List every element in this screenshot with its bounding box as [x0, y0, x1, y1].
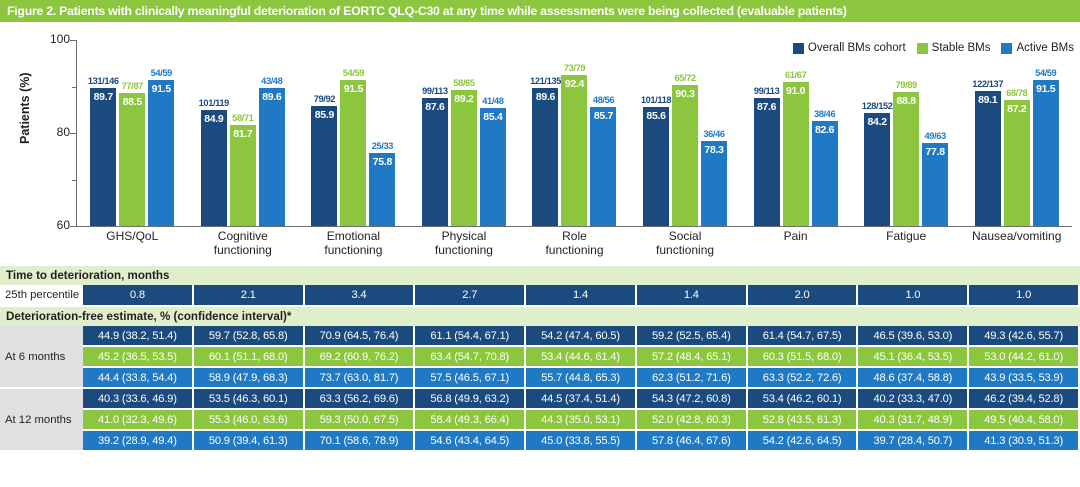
- bar-fraction-label: 25/33: [361, 141, 403, 151]
- y-tick-major-100: [70, 40, 76, 41]
- x-axis-category-label: Socialfunctioning: [630, 230, 741, 257]
- table-cell: 46.5 (39.6, 53.0): [858, 326, 967, 345]
- x-axis-category-label: Cognitivefunctioning: [188, 230, 299, 257]
- table-cell: 45.2 (36.5, 53.5): [83, 347, 192, 366]
- bar-group: 128/15284.279/8988.849/6377.8: [851, 40, 962, 226]
- bar: 65/7290.3: [672, 85, 698, 226]
- x-axis-category-label: Emotionalfunctioning: [298, 230, 409, 257]
- bar-value-label: 78.3: [701, 144, 727, 156]
- table-cell: 43.9 (33.5, 53.9): [969, 368, 1078, 387]
- bar-fraction-label: 58/65: [443, 78, 485, 88]
- table-cell: 54.6 (43.4, 64.5): [415, 431, 524, 450]
- bar-value-label: 88.8: [893, 95, 919, 107]
- bar: 54/5991.5: [148, 80, 174, 226]
- bar-fraction-label: 73/79: [553, 63, 595, 73]
- x-axis-category-label: Fatigue: [851, 230, 962, 244]
- table-cell: 62.3 (51.2, 71.6): [637, 368, 746, 387]
- bar: 36/4678.3: [701, 141, 727, 226]
- table-cell: 60.1 (51.1, 68.0): [194, 347, 303, 366]
- table-row-block: At 12 months40.3 (33.6, 46.9)53.5 (46.3,…: [0, 389, 1080, 450]
- table-cell: 58.4 (49.3, 66.4): [415, 410, 524, 429]
- bar-chart: Patients (%) 131/14689.777/8788.554/5991…: [0, 26, 1080, 266]
- bar-fraction-label: 58/71: [222, 113, 264, 123]
- table-cell: 55.3 (46.0, 63.6): [194, 410, 303, 429]
- bar-value-label: 90.3: [672, 88, 698, 100]
- bar-fraction-label: 61/67: [775, 70, 817, 80]
- bar-value-label: 75.8: [369, 156, 395, 168]
- table-cell: 53.4 (44.6, 61.4): [526, 347, 635, 366]
- table-cell: 2.1: [194, 285, 303, 305]
- table-cell: 59.7 (52.8, 65.8): [194, 326, 303, 345]
- bar: 43/4889.6: [259, 88, 285, 226]
- table-row-label: At 12 months: [0, 389, 83, 450]
- table-row: 41.0 (32.3, 49.6)55.3 (46.0, 63.6)59.3 (…: [83, 410, 1080, 429]
- table-cell: 49.5 (40.4, 58.0): [969, 410, 1078, 429]
- bar: 41/4885.4: [480, 108, 506, 226]
- table-row-block: 25th percentile0.82.13.42.71.41.42.01.01…: [0, 285, 1080, 305]
- bar-value-label: 87.6: [422, 101, 448, 113]
- table-cell: 54.2 (47.4, 60.5): [526, 326, 635, 345]
- bar-fraction-label: 79/92: [303, 94, 345, 104]
- table-cell: 73.7 (63.0, 81.7): [305, 368, 414, 387]
- bar-value-label: 81.7: [230, 128, 256, 140]
- bar-value-label: 91.5: [148, 83, 174, 95]
- bar-value-label: 82.6: [812, 124, 838, 136]
- table-cell: 0.8: [83, 285, 192, 305]
- table-cell: 61.4 (54.7, 67.5): [748, 326, 857, 345]
- table-cell: 53.0 (44.2, 61.0): [969, 347, 1078, 366]
- table-cell: 57.2 (48.4, 65.1): [637, 347, 746, 366]
- bar-value-label: 85.7: [590, 110, 616, 122]
- bar-fraction-label: 43/48: [251, 76, 293, 86]
- figure-panel: Figure 2. Patients with clinically meani…: [0, 0, 1080, 487]
- table-cell: 53.5 (46.3, 60.1): [194, 389, 303, 408]
- table-cell: 63.3 (52.2, 72.6): [748, 368, 857, 387]
- table-cell: 52.8 (43.5, 61.3): [748, 410, 857, 429]
- bar-group: 99/11387.658/6589.241/4885.4: [409, 40, 520, 226]
- bar-fraction-label: 54/59: [332, 68, 374, 78]
- table-cell: 59.2 (52.5, 65.4): [637, 326, 746, 345]
- table-row: 0.82.13.42.71.41.42.01.01.0: [83, 285, 1080, 305]
- table-cell: 46.2 (39.4, 52.8): [969, 389, 1078, 408]
- y-tick-label-60: 60: [36, 218, 70, 232]
- bar-value-label: 89.6: [532, 91, 558, 103]
- bar-value-label: 87.2: [1004, 103, 1030, 115]
- plot-area: 131/14689.777/8788.554/5991.5101/11984.9…: [77, 40, 1072, 226]
- table-cell: 54.3 (47.2, 60.8): [637, 389, 746, 408]
- table-cell: 63.4 (54.7, 70.8): [415, 347, 524, 366]
- page-title: Figure 2. Patients with clinically meani…: [0, 4, 847, 18]
- bar-fraction-label: 38/46: [804, 109, 846, 119]
- table-row-label: At 6 months: [0, 326, 83, 387]
- table-cell: 2.7: [415, 285, 524, 305]
- table-cell: 41.0 (32.3, 49.6): [83, 410, 192, 429]
- data-tables: Time to deterioration, months25th percen…: [0, 266, 1080, 452]
- table-cell: 40.2 (33.3, 47.0): [858, 389, 967, 408]
- bar: 25/3375.8: [369, 153, 395, 226]
- bar-group: 99/11387.661/6791.038/4682.6: [740, 40, 851, 226]
- table-cell: 61.1 (54.4, 67.1): [415, 326, 524, 345]
- bar: 101/11984.9: [201, 110, 227, 226]
- table-row: 40.3 (33.6, 46.9)53.5 (46.3, 60.1)63.3 (…: [83, 389, 1080, 408]
- bar: 54/5991.5: [340, 80, 366, 226]
- bar-value-label: 89.6: [259, 91, 285, 103]
- y-tick-label-100: 100: [36, 32, 70, 46]
- x-axis-line: [76, 226, 1072, 227]
- bar-value-label: 85.4: [480, 111, 506, 123]
- table-cell: 39.2 (28.9, 49.4): [83, 431, 192, 450]
- table-cell: 44.5 (37.4, 51.4): [526, 389, 635, 408]
- y-tick-major-80: [70, 133, 76, 134]
- table-section-header: Deterioration-free estimate, % (confiden…: [0, 307, 1080, 326]
- table-cell: 56.8 (49.9, 63.2): [415, 389, 524, 408]
- bar-value-label: 85.6: [643, 110, 669, 122]
- table-cell: 41.3 (30.9, 51.3): [969, 431, 1078, 450]
- table-cell: 2.0: [748, 285, 857, 305]
- bar-fraction-label: 128/152: [856, 101, 898, 111]
- table-cell: 57.8 (46.4, 67.6): [637, 431, 746, 450]
- bar-fraction-label: 79/89: [885, 80, 927, 90]
- table-cell: 44.3 (35.0, 53.1): [526, 410, 635, 429]
- table-cell: 40.3 (33.6, 46.9): [83, 389, 192, 408]
- bar-fraction-label: 68/78: [996, 88, 1038, 98]
- table-cell: 54.2 (42.6, 64.5): [748, 431, 857, 450]
- table-cell: 70.9 (64.5, 76.4): [305, 326, 414, 345]
- bar-value-label: 91.0: [783, 85, 809, 97]
- bar: 77/8788.5: [119, 93, 145, 226]
- bar-value-label: 91.5: [1033, 83, 1059, 95]
- y-axis-label: Patients (%): [18, 72, 32, 144]
- y-tick-major-60: [70, 226, 76, 227]
- bar: 68/7887.2: [1004, 100, 1030, 226]
- x-axis-category-label: Physicalfunctioning: [409, 230, 520, 257]
- bar: 38/4682.6: [812, 121, 838, 226]
- table-cell: 55.7 (44.8, 65.3): [526, 368, 635, 387]
- bar-fraction-label: 41/48: [472, 96, 514, 106]
- bar: 49/6377.8: [922, 143, 948, 226]
- bar-fraction-label: 77/87: [111, 81, 153, 91]
- bar-fraction-label: 121/135: [524, 76, 566, 86]
- bar: 121/13589.6: [532, 88, 558, 226]
- bar: 131/14689.7: [90, 88, 116, 226]
- x-axis-categories: GHS/QoLCognitivefunctioningEmotionalfunc…: [77, 230, 1072, 268]
- table-cell: 40.3 (31.7, 48.9): [858, 410, 967, 429]
- table-cell: 1.0: [969, 285, 1078, 305]
- bar-value-label: 89.7: [90, 91, 116, 103]
- table-cell: 3.4: [305, 285, 414, 305]
- table-row: 44.4 (33.8, 54.4)58.9 (47.9, 68.3)73.7 (…: [83, 368, 1080, 387]
- bar: 128/15284.2: [864, 113, 890, 226]
- figure-title-bar: Figure 2. Patients with clinically meani…: [0, 0, 1080, 22]
- bar-group: 122/13789.168/7887.254/5991.5: [961, 40, 1072, 226]
- table-row: 44.9 (38.2, 51.4)59.7 (52.8, 65.8)70.9 (…: [83, 326, 1080, 345]
- table-cell: 1.0: [858, 285, 967, 305]
- x-axis-category-label: Pain: [740, 230, 851, 244]
- table-cell: 49.3 (42.6, 55.7): [969, 326, 1078, 345]
- y-tick-label-80: 80: [36, 125, 70, 139]
- bar-value-label: 92.4: [561, 78, 587, 90]
- table-cell: 45.0 (33.8, 55.5): [526, 431, 635, 450]
- table-row: 39.2 (28.9, 49.4)50.9 (39.4, 61.3)70.1 (…: [83, 431, 1080, 450]
- bar: 99/11387.6: [754, 98, 780, 226]
- bar-fraction-label: 54/59: [140, 68, 182, 78]
- y-tick-minor-70: [72, 180, 76, 181]
- table-cell: 48.6 (37.4, 58.8): [858, 368, 967, 387]
- table-cell: 1.4: [526, 285, 635, 305]
- table-cell: 1.4: [637, 285, 746, 305]
- table-cell: 57.5 (46.5, 67.1): [415, 368, 524, 387]
- table-row-stack: 44.9 (38.2, 51.4)59.7 (52.8, 65.8)70.9 (…: [83, 326, 1080, 387]
- bar-fraction-label: 36/46: [693, 129, 735, 139]
- bar-fraction-label: 101/118: [635, 95, 677, 105]
- row-gap: [0, 450, 1080, 452]
- bar-group: 131/14689.777/8788.554/5991.5: [77, 40, 188, 226]
- table-cell: 69.2 (60.9, 76.2): [305, 347, 414, 366]
- table-row-stack: 0.82.13.42.71.41.42.01.01.0: [83, 285, 1080, 305]
- y-tick-minor-90: [72, 87, 76, 88]
- table-cell: 50.9 (39.4, 61.3): [194, 431, 303, 450]
- bar-group: 121/13589.673/7992.448/5685.7: [519, 40, 630, 226]
- table-cell: 53.4 (46.2, 60.1): [748, 389, 857, 408]
- bar-fraction-label: 65/72: [664, 73, 706, 83]
- bar-fraction-label: 48/56: [582, 95, 624, 105]
- bar-fraction-label: 101/119: [193, 98, 235, 108]
- x-axis-category-label: Nausea/vomiting: [961, 230, 1072, 244]
- bar: 99/11387.6: [422, 98, 448, 226]
- table-cell: 60.3 (51.5, 68.0): [748, 347, 857, 366]
- bar-value-label: 88.5: [119, 96, 145, 108]
- table-cell: 58.9 (47.9, 68.3): [194, 368, 303, 387]
- bar-value-label: 87.6: [754, 101, 780, 113]
- bar-group: 79/9285.954/5991.525/3375.8: [298, 40, 409, 226]
- bar: 48/5685.7: [590, 107, 616, 227]
- bar-value-label: 85.9: [311, 109, 337, 121]
- table-row-label: 25th percentile: [0, 285, 83, 305]
- bar-fraction-label: 49/63: [914, 131, 956, 141]
- bar-group: 101/11885.665/7290.336/4678.3: [630, 40, 741, 226]
- table-section-title: Time to deterioration, months: [6, 269, 169, 282]
- table-cell: 39.7 (28.4, 50.7): [858, 431, 967, 450]
- bar-group: 101/11984.958/7181.743/4889.6: [188, 40, 299, 226]
- bar-fraction-label: 54/59: [1025, 68, 1067, 78]
- table-row-stack: 40.3 (33.6, 46.9)53.5 (46.3, 60.1)63.3 (…: [83, 389, 1080, 450]
- bar-value-label: 91.5: [340, 83, 366, 95]
- bar-value-label: 84.2: [864, 116, 890, 128]
- table-row-block: At 6 months44.9 (38.2, 51.4)59.7 (52.8, …: [0, 326, 1080, 387]
- bar-fraction-label: 99/113: [746, 86, 788, 96]
- table-section-header: Time to deterioration, months: [0, 266, 1080, 285]
- x-axis-category-label: GHS/QoL: [77, 230, 188, 244]
- table-cell: 63.3 (56.2, 69.6): [305, 389, 414, 408]
- bar: 58/6589.2: [451, 90, 477, 226]
- table-row: 45.2 (36.5, 53.5)60.1 (51.1, 68.0)69.2 (…: [83, 347, 1080, 366]
- table-cell: 59.3 (50.0, 67.5): [305, 410, 414, 429]
- bar: 61/6791.0: [783, 82, 809, 226]
- bar-value-label: 77.8: [922, 146, 948, 158]
- bar: 101/11885.6: [643, 107, 669, 226]
- bar: 122/13789.1: [975, 91, 1001, 226]
- bar: 79/9285.9: [311, 106, 337, 226]
- table-cell: 44.9 (38.2, 51.4): [83, 326, 192, 345]
- table-section-title: Deterioration-free estimate, % (confiden…: [6, 310, 291, 323]
- table-cell: 44.4 (33.8, 54.4): [83, 368, 192, 387]
- bar: 58/7181.7: [230, 125, 256, 226]
- bar: 79/8988.8: [893, 92, 919, 226]
- table-cell: 45.1 (36.4, 53.5): [858, 347, 967, 366]
- x-axis-category-label: Rolefunctioning: [519, 230, 630, 257]
- table-cell: 70.1 (58.6, 78.9): [305, 431, 414, 450]
- bar: 54/5991.5: [1033, 80, 1059, 226]
- table-cell: 52.0 (42.8, 60.3): [637, 410, 746, 429]
